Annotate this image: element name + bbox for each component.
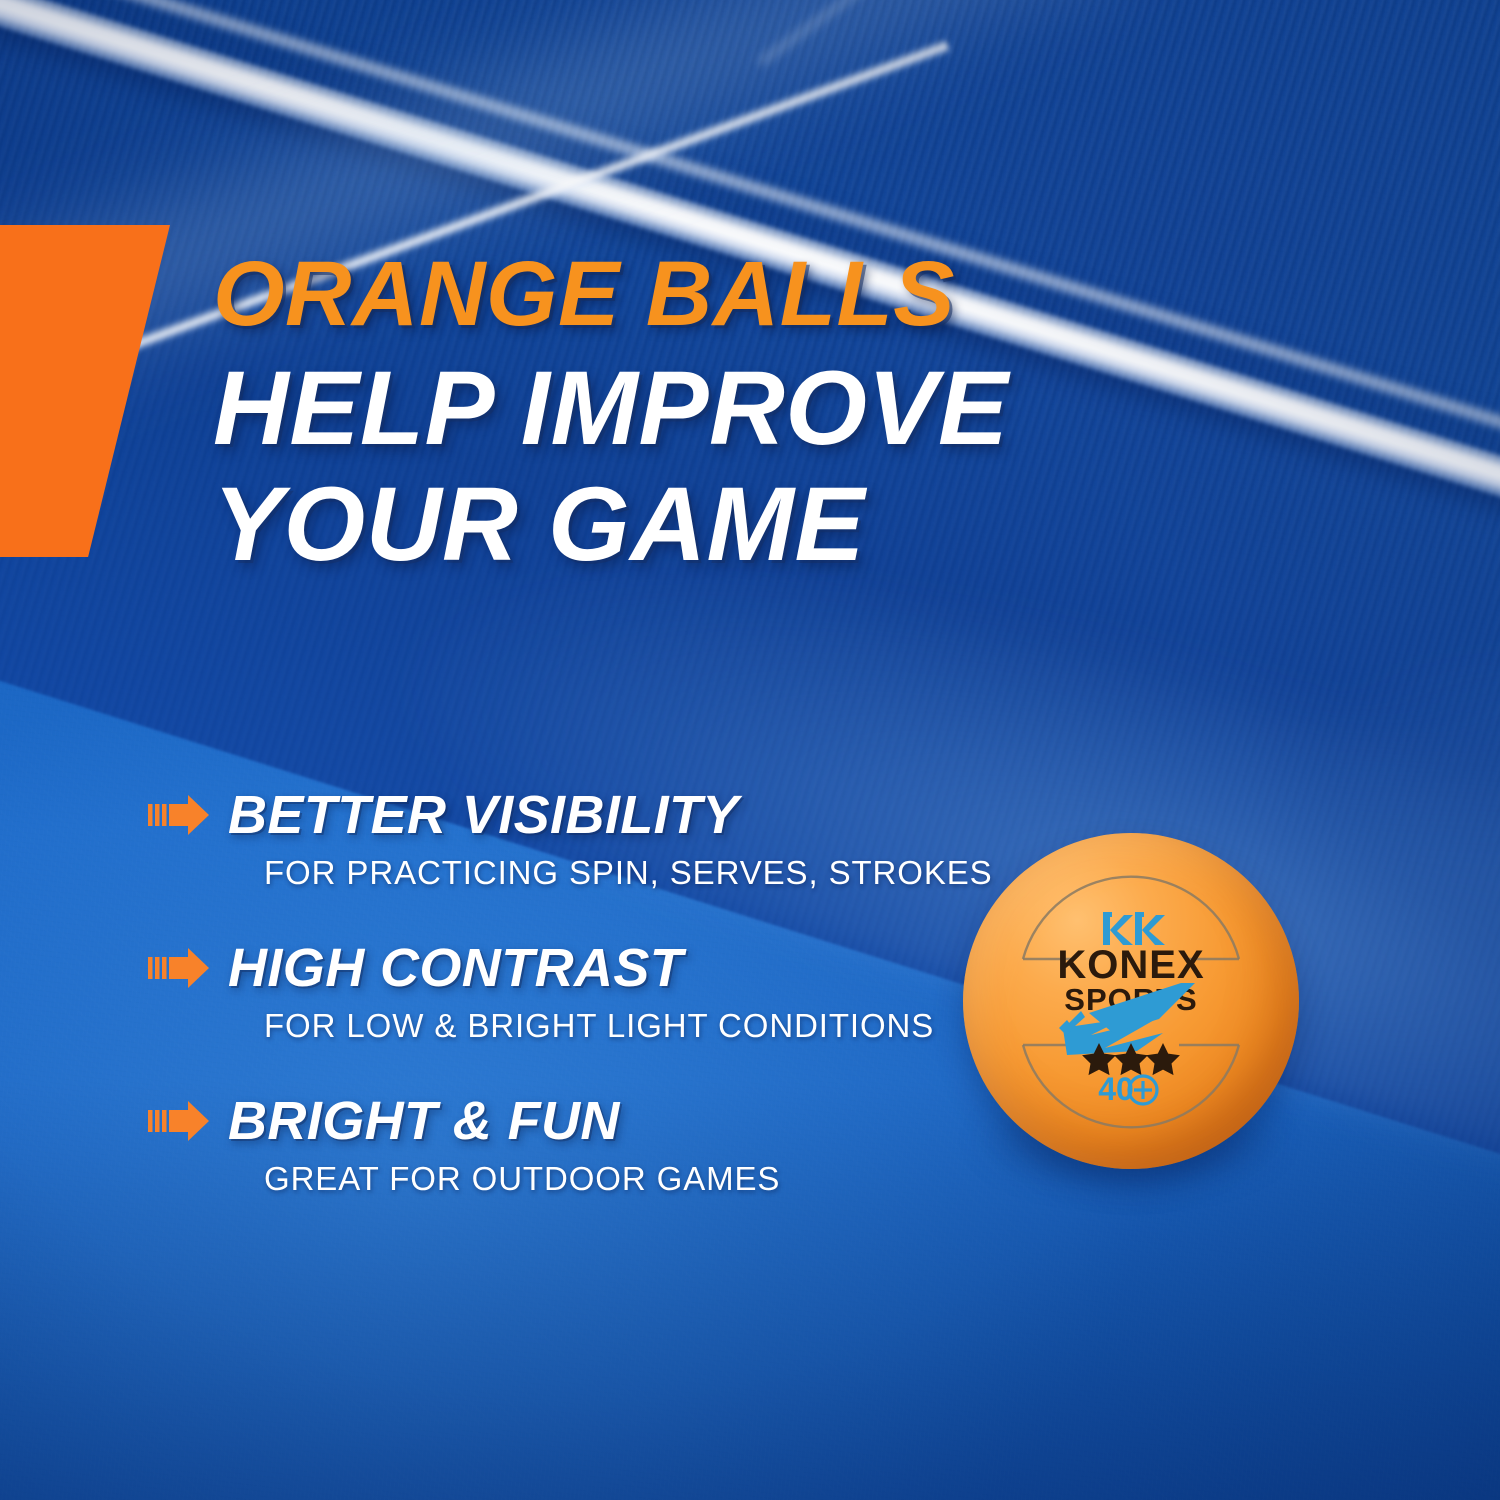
feature-item: HIGH CONTRAST FOR LOW & BRIGHT LIGHT CON… <box>148 941 948 1042</box>
feature-item: BRIGHT & FUN GREAT FOR OUTDOOR GAMES <box>148 1094 948 1195</box>
product-ball: KONEX SPORTS 40 <box>963 833 1299 1173</box>
feature-title: BETTER VISIBILITY <box>228 788 739 842</box>
feature-title: HIGH CONTRAST <box>228 941 683 995</box>
feature-subtitle: GREAT FOR OUTDOOR GAMES <box>264 1162 948 1195</box>
feature-subtitle: FOR LOW & BRIGHT LIGHT CONDITIONS <box>264 1009 948 1042</box>
headline-line-2: HELP IMPROVE <box>213 356 1393 461</box>
feature-list: BETTER VISIBILITY FOR PRACTICING SPIN, S… <box>148 788 948 1195</box>
kk-monogram-icon <box>1103 912 1165 945</box>
ball-sphere: KONEX SPORTS 40 <box>963 833 1299 1169</box>
feature-title: BRIGHT & FUN <box>228 1094 620 1148</box>
arrow-right-icon <box>148 792 210 838</box>
arrow-right-icon <box>148 945 210 991</box>
feature-item: BETTER VISIBILITY FOR PRACTICING SPIN, S… <box>148 788 948 889</box>
bottom-shade-overlay <box>0 0 1500 1500</box>
headline-line-3: YOUR GAME <box>213 472 1393 577</box>
promo-banner: ORANGE BALLS HELP IMPROVE YOUR GAME BETT… <box>0 0 1500 1500</box>
brand-name-text: KONEX <box>1057 943 1204 987</box>
ball-print-artwork: KONEX SPORTS 40 <box>963 833 1299 1169</box>
headline-block: ORANGE BALLS HELP IMPROVE YOUR GAME <box>213 248 1393 577</box>
feature-subtitle: FOR PRACTICING SPIN, SERVES, STROKES <box>264 856 948 889</box>
headline-line-1: ORANGE BALLS <box>213 248 1393 340</box>
arrow-right-icon <box>148 1098 210 1144</box>
